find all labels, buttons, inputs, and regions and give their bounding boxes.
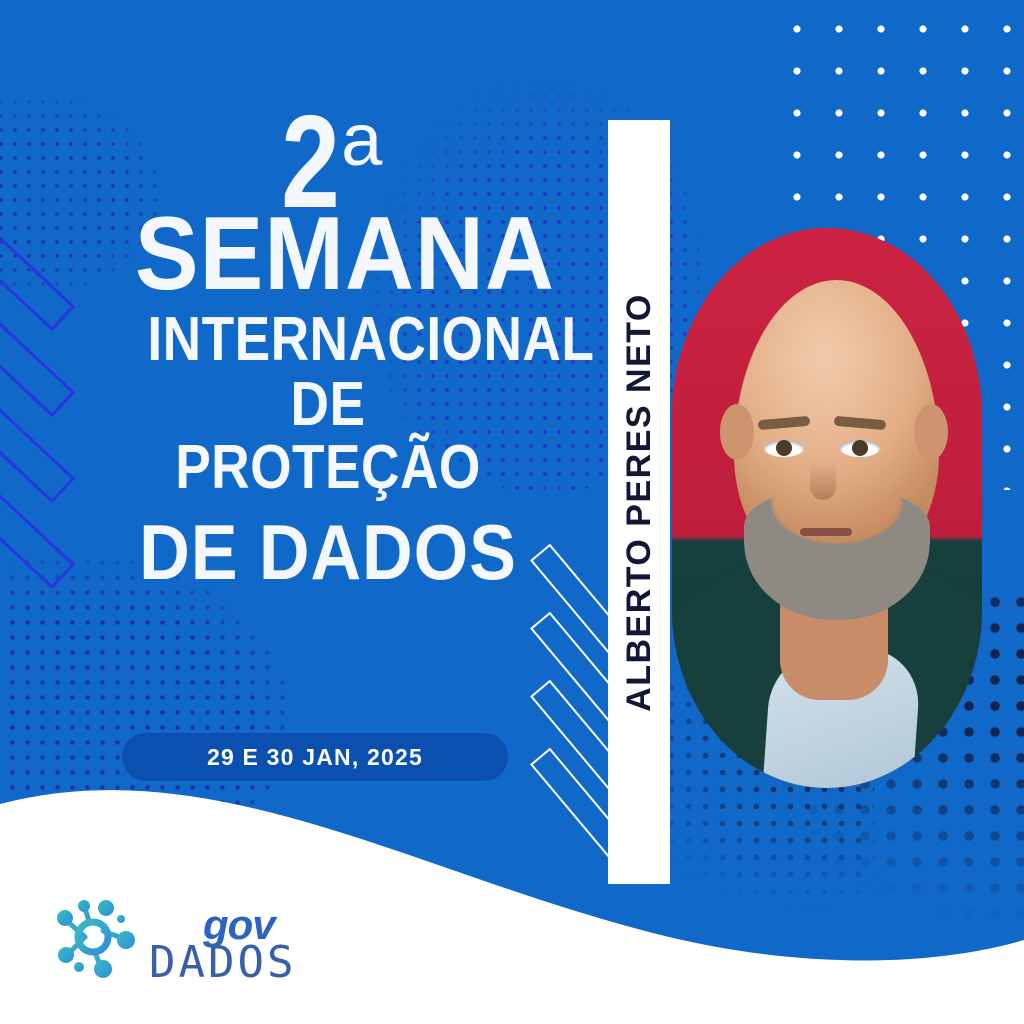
- edition-ordinal-suffix: a: [341, 110, 382, 171]
- molecule-network-icon: [55, 897, 141, 979]
- headline-block: 2 a SEMANA INTERNACIONAL DE PROTEÇÃO DE …: [118, 108, 538, 591]
- diagonal-bar: [0, 442, 75, 590]
- headline-line-4: DE DADOS: [139, 513, 517, 591]
- logo-dados-text: DADOS: [149, 937, 296, 988]
- speaker-portrait-illustration: [672, 228, 982, 788]
- portrait-pupil-right: [852, 440, 868, 456]
- portrait-pupil-left: [776, 440, 792, 456]
- diagonal-bar: [0, 270, 75, 418]
- portrait-ear-right: [914, 404, 948, 460]
- portrait-ear-left: [720, 404, 754, 460]
- event-poster: ALBERTO PERES NETO 2 a SEMANA INTERNACIO…: [0, 0, 1024, 1024]
- headline-line-1: SEMANA: [135, 210, 521, 299]
- diagonal-bar: [0, 356, 75, 504]
- headline-line-3: DE PROTEÇÃO: [147, 373, 508, 499]
- brand-logo: gov DADOS: [55, 897, 347, 979]
- logo-wordmark: gov DADOS: [147, 899, 347, 977]
- speaker-name: ALBERTO PERES NETO: [620, 293, 659, 712]
- diagonal-bar: [0, 184, 75, 332]
- portrait-mouth: [800, 528, 852, 536]
- speaker-photo: [672, 228, 982, 788]
- headline-line-2: INTERNACIONAL: [147, 308, 508, 371]
